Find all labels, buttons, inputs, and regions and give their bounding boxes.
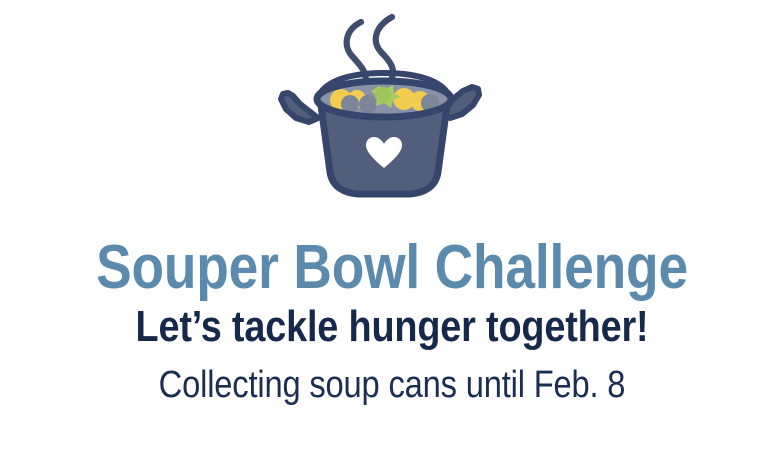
- poster-text-block: Souper Bowl Challenge Let’s tackle hunge…: [0, 215, 784, 407]
- page-title: Souper Bowl Challenge: [55, 235, 729, 301]
- poster-detail-line: Collecting soup cans until Feb. 8: [55, 363, 729, 407]
- soup-pot-illustration: [0, 0, 784, 215]
- handle-left: [281, 93, 318, 122]
- veg-gray: [359, 95, 377, 113]
- poster-subheading: Let’s tackle hunger together!: [55, 303, 729, 351]
- poster-canvas: Souper Bowl Challenge Let’s tackle hunge…: [0, 0, 784, 450]
- veg-green: [375, 87, 391, 103]
